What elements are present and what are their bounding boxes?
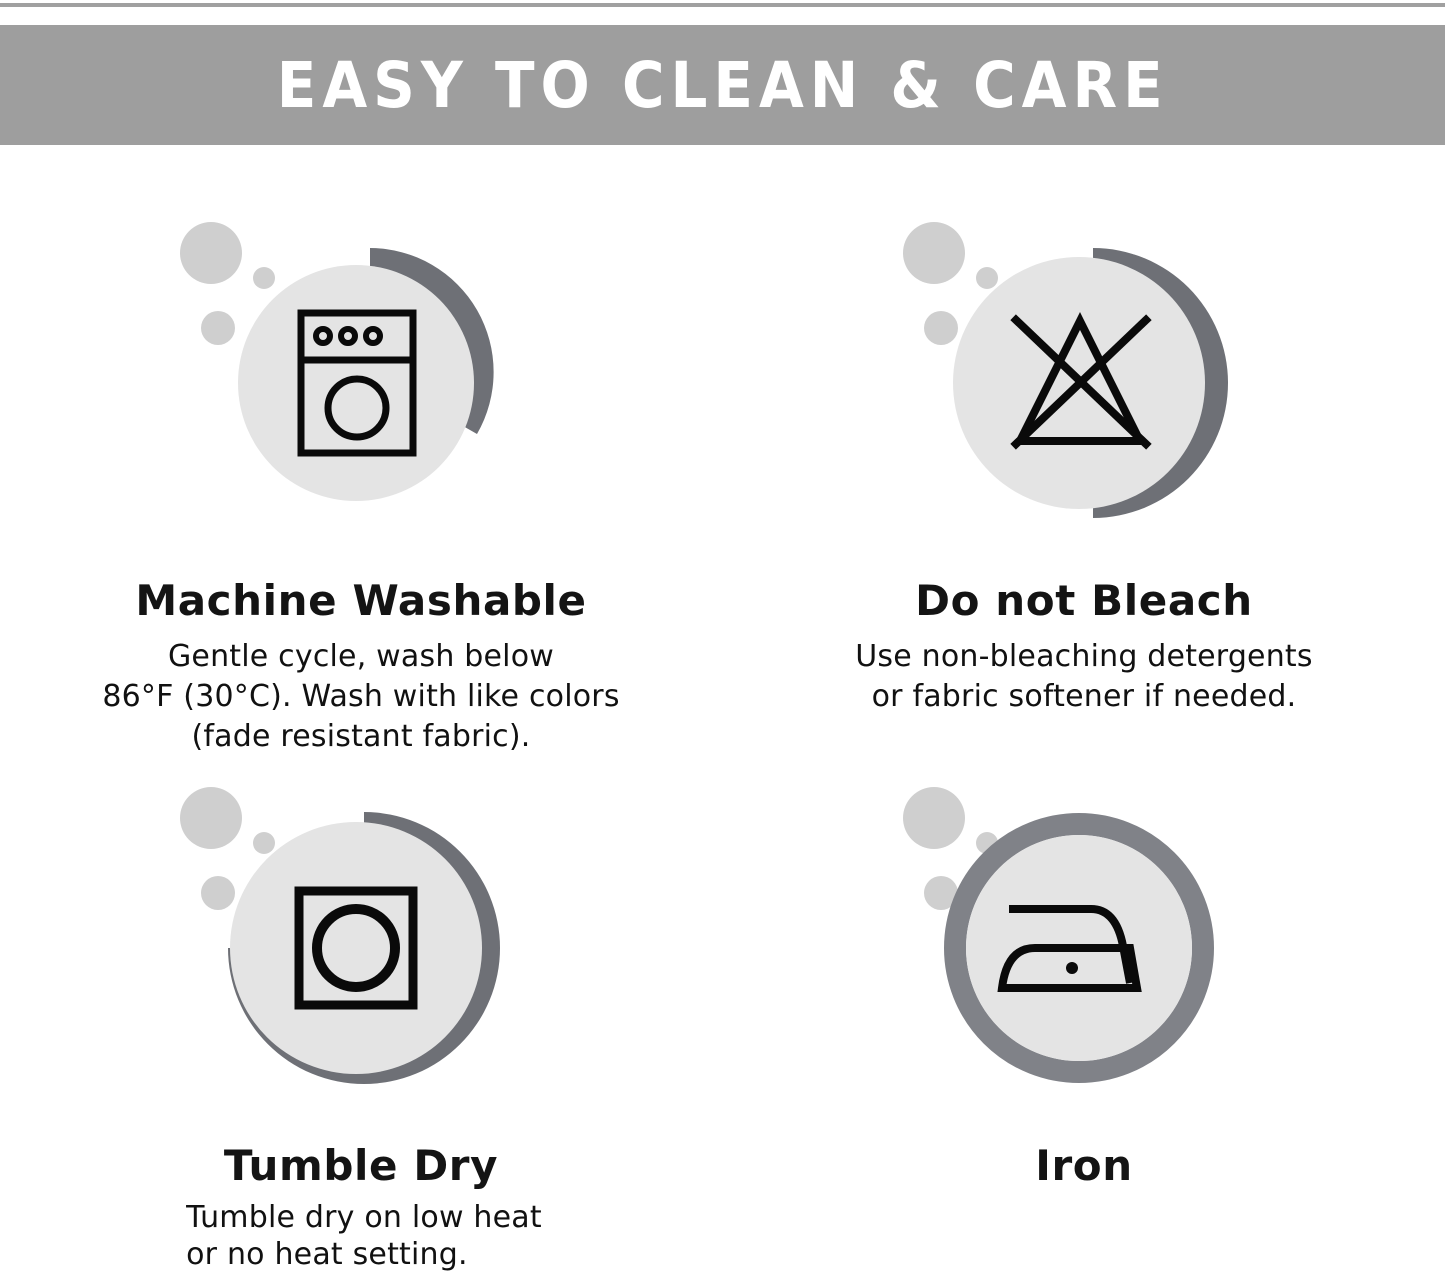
badge-iron [894,768,1274,1120]
care-card-iron: Iron [723,710,1445,1188]
card-body-tumble-dry: Tumble dry on low heat or no heat settin… [180,1200,542,1273]
bubble-small-icon [253,832,275,854]
iron-heat-dot-icon [1066,962,1078,974]
bubble-large-icon [180,787,242,849]
card-body-do-not-bleach: Use non-bleaching detergents or fabric s… [855,637,1312,717]
bubble-large-icon [903,222,965,284]
badge-tumble-dry [171,768,551,1120]
bubble-large-icon [903,787,965,849]
bubble-small-icon [253,267,275,289]
card-title-tumble-dry: Tumble Dry [224,1144,498,1188]
card-title-iron: Iron [1035,1144,1133,1188]
bubble-medium-icon [201,311,235,345]
top-divider-rule [0,3,1445,7]
badge-circle-fill [238,265,474,501]
badge-do-not-bleach [894,203,1274,555]
care-card-do-not-bleach: Do not Bleach Use non-bleaching detergen… [723,145,1445,717]
care-card-machine-washable: Machine Washable Gentle cycle, wash belo… [0,145,722,757]
card-title-machine-washable: Machine Washable [135,579,586,623]
bubble-large-icon [180,222,242,284]
care-instruction-grid: Machine Washable Gentle cycle, wash belo… [0,145,1445,1263]
care-card-tumble-dry: Tumble Dry Tumble dry on low heat or no … [0,710,722,1273]
bubble-small-icon [976,267,998,289]
iron-icon [894,768,1274,1120]
no-bleach-triangle-icon [894,203,1274,555]
page-title: EASY TO CLEAN & CARE [277,54,1169,117]
card-title-do-not-bleach: Do not Bleach [915,579,1253,623]
tumble-dry-square-icon [171,768,551,1120]
badge-circle-fill [230,822,482,1074]
header-banner: EASY TO CLEAN & CARE [0,25,1445,145]
bubble-medium-icon [924,311,958,345]
washing-machine-icon [171,203,551,555]
badge-machine-washable [171,203,551,555]
bubble-medium-icon [201,876,235,910]
